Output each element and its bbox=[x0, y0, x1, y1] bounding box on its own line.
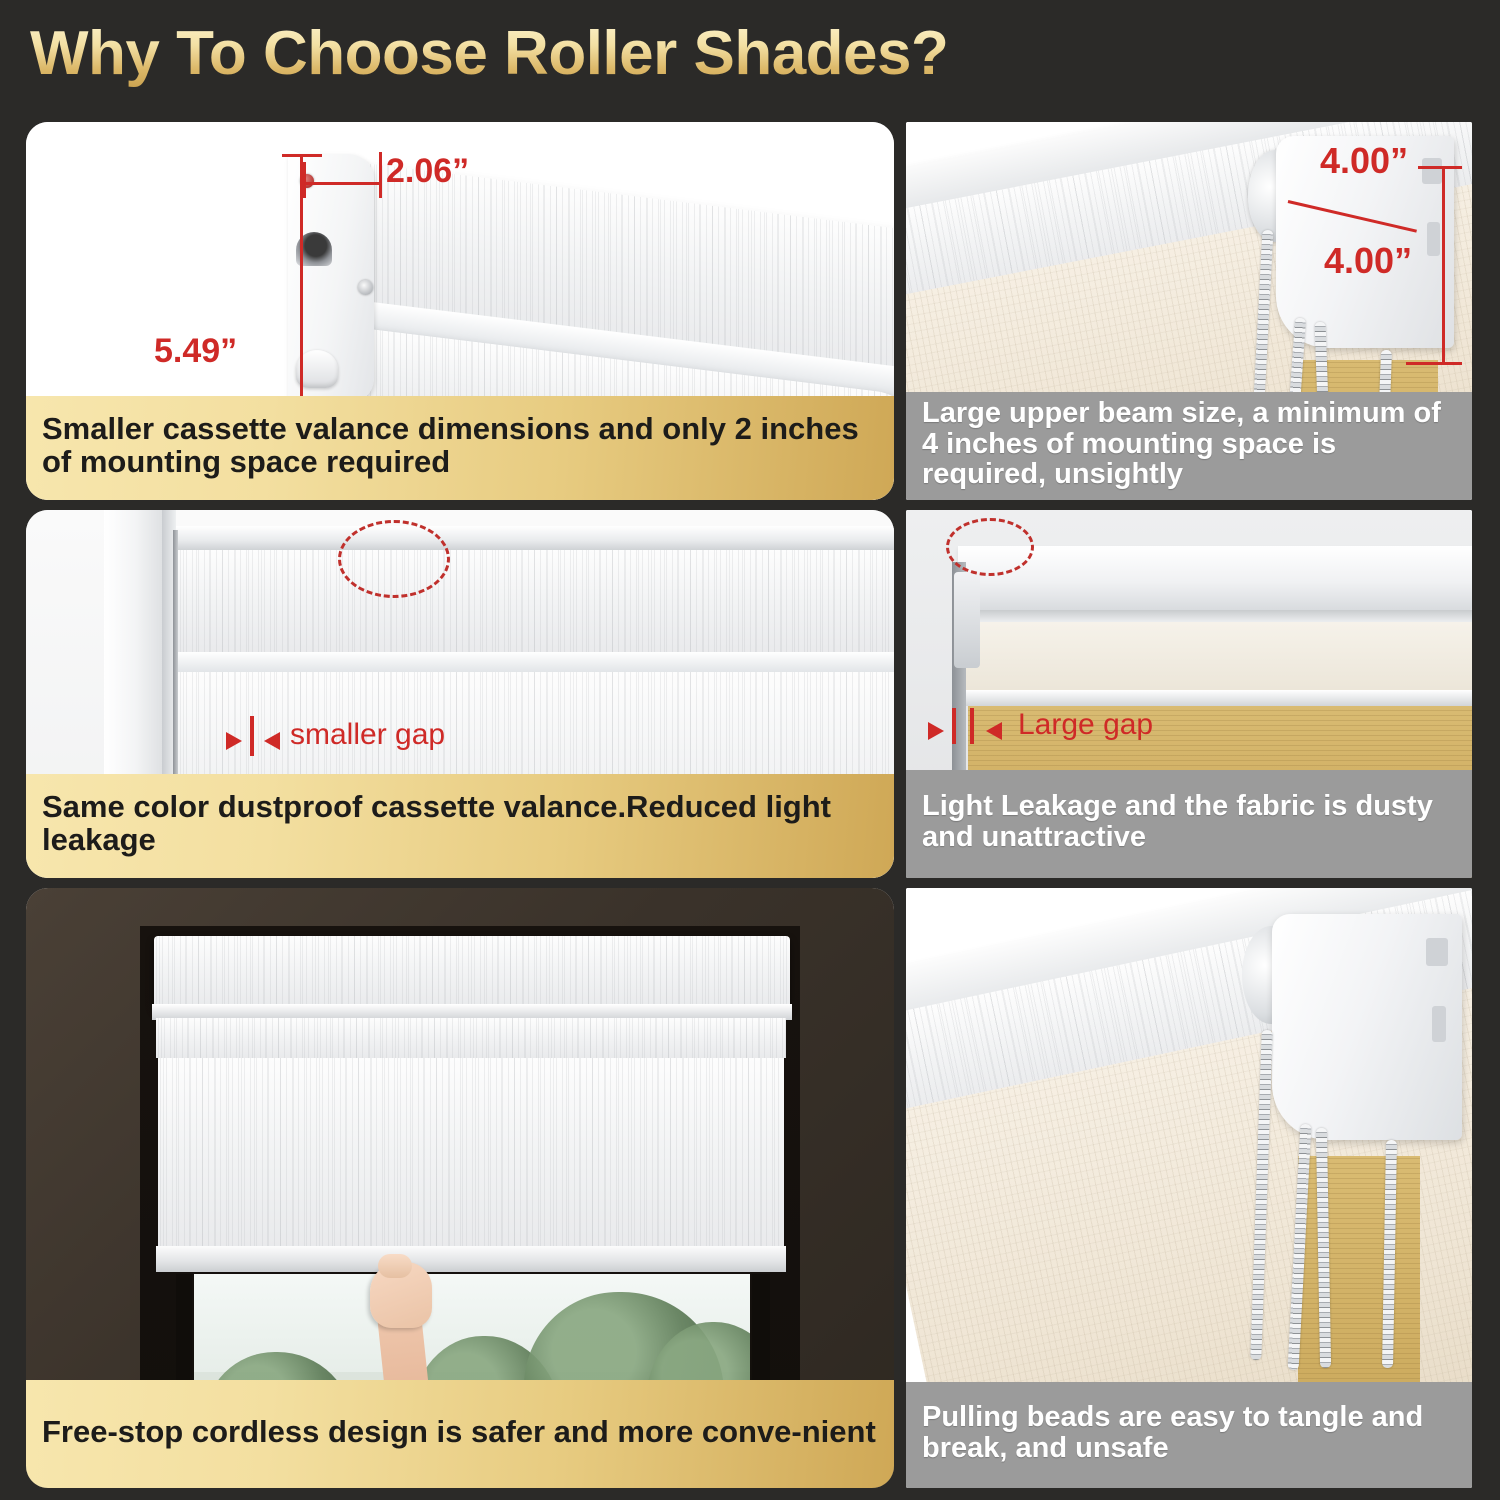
page-title: Why To Choose Roller Shades? bbox=[30, 18, 948, 89]
caption-pro-cordless-design: Free-stop cordless design is safer and m… bbox=[26, 1380, 894, 1488]
bottom-rail bbox=[156, 1246, 786, 1272]
panel-con-upper-beam-size: 4.00” 4.00” Large upper beam size, a min… bbox=[906, 122, 1472, 500]
width-dim-tick-left bbox=[303, 162, 306, 198]
infographic-root: Why To Choose Roller Shades? bbox=[0, 0, 1500, 1500]
comparison-grid: 2.06” 5.49” Smaller cassette valance dim… bbox=[0, 112, 1500, 1500]
width-dim-line bbox=[304, 182, 382, 185]
caption-con-upper-beam-size: Large upper beam size, a minimum of 4 in… bbox=[906, 392, 1472, 500]
panel-pro-cordless-design: Free-stop cordless design is safer and m… bbox=[26, 888, 894, 1488]
screw-icon bbox=[358, 280, 373, 295]
beam-height-label: 4.00” bbox=[1324, 240, 1412, 282]
height-dim-tick-top bbox=[282, 154, 322, 157]
gap-marker bbox=[250, 716, 254, 756]
beam-width-label: 4.00” bbox=[1320, 140, 1408, 182]
cassette-valance bbox=[176, 526, 894, 550]
smaller-gap-label: smaller gap bbox=[290, 718, 445, 752]
valance-body bbox=[156, 1018, 786, 1058]
width-dimension-label: 2.06” bbox=[386, 152, 469, 191]
height-dimension-label: 5.49” bbox=[154, 332, 237, 371]
beam-height-dim-line bbox=[1442, 166, 1445, 364]
beam-shadow bbox=[958, 610, 1472, 622]
beam-height-tick-top bbox=[1418, 166, 1462, 169]
highlight-circle-icon bbox=[338, 520, 450, 598]
hand-grip bbox=[378, 1254, 412, 1278]
highlight-circle-icon bbox=[946, 518, 1034, 576]
panel-pro-dustproof-valance: smaller gap Same color dustproof cassett… bbox=[26, 510, 894, 878]
panel-con-light-leakage: Large gap Light Leakage and the fabric i… bbox=[906, 510, 1472, 878]
beam-height-tick-bottom bbox=[1406, 362, 1462, 365]
width-dim-tick-right bbox=[379, 152, 382, 198]
shade-fabric bbox=[158, 1058, 784, 1248]
mounting-bracket bbox=[1272, 914, 1462, 1140]
panel-con-pulling-beads: Pulling beads are easy to tangle and bre… bbox=[906, 888, 1472, 1488]
gap-marker bbox=[952, 708, 956, 744]
shade-fabric-upper bbox=[178, 550, 894, 654]
caption-pro-cassette-dimensions: Smaller cassette valance dimensions and … bbox=[26, 396, 894, 500]
bracket-slot bbox=[1422, 158, 1442, 184]
bracket-slot bbox=[1426, 938, 1448, 966]
bracket-slot bbox=[1427, 222, 1440, 256]
gap-arrow-right-icon bbox=[986, 722, 1002, 740]
caption-con-pulling-beads: Pulling beads are easy to tangle and bre… bbox=[906, 1382, 1472, 1488]
upper-beam bbox=[958, 546, 1472, 612]
gap-arrow-left-icon bbox=[928, 722, 944, 740]
gap-marker bbox=[970, 708, 974, 744]
large-gap-label: Large gap bbox=[1018, 708, 1153, 742]
caption-pro-dustproof-valance: Same color dustproof cassette valance.Re… bbox=[26, 774, 894, 878]
bracket-slot bbox=[1432, 1006, 1446, 1042]
gap-arrow-left-icon bbox=[226, 732, 242, 750]
shade-rail bbox=[964, 690, 1472, 706]
shade-rail bbox=[176, 652, 894, 672]
bracket-fragment bbox=[954, 572, 980, 668]
panel-pro-cassette-dimensions: 2.06” 5.49” Smaller cassette valance dim… bbox=[26, 122, 894, 500]
cassette-valance bbox=[154, 936, 790, 1008]
gap-arrow-right-icon bbox=[264, 732, 280, 750]
caption-con-light-leakage: Light Leakage and the fabric is dusty an… bbox=[906, 770, 1472, 878]
shade-fabric-cream bbox=[964, 622, 1472, 690]
